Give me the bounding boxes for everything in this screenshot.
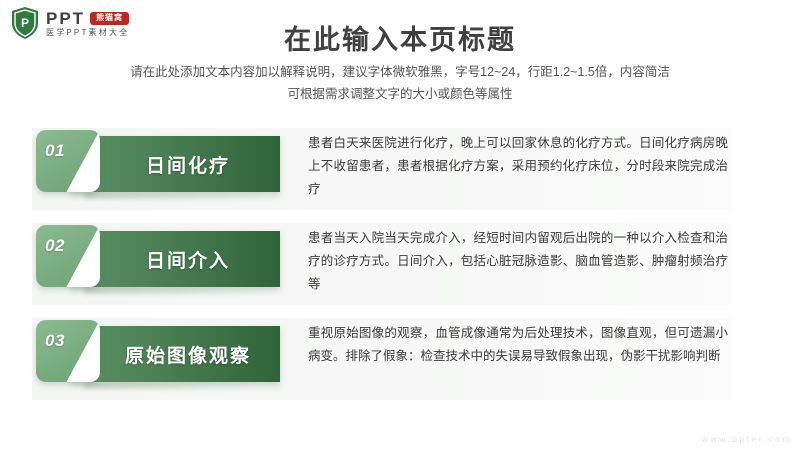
content-row[interactable]: 日间化疗 01 患者白天来医院进行化疗，晚上可以回家休息的化疗方式。日间化疗病房… [0,122,800,217]
row-label: 日间化疗 [120,151,230,178]
badge-diagonal-cut [66,130,100,192]
footer-url: www.ppter.com [702,434,792,444]
row-banner[interactable]: 日间介入 [70,231,280,287]
slide-canvas: P PPT 熊猫窝 医学PPT素材大全 在此输入本页标题 请在此处添加文本内容加… [0,0,800,450]
row-number: 02 [45,236,65,256]
content-row[interactable]: 日间介入 02 患者当天入院当天完成介入，经短时间内留观后出院的一种以介入检查和… [0,217,800,312]
row-number-badge: 03 [36,320,100,382]
row-body-text: 患者当天入院当天完成介入，经短时间内留观后出院的一种以介入检查和治疗的诊疗方式。… [308,227,728,296]
badge-diagonal-cut [66,225,100,287]
row-number: 01 [45,141,65,161]
subtitle-line-2: 可根据需求调整文字的大小或颜色等属性 [0,84,800,106]
banner-shadow [84,287,280,294]
banner-plate: 原始图像观察 [70,326,280,382]
badge-diagonal-cut [66,320,100,382]
row-banner[interactable]: 日间化疗 [70,136,280,192]
page-title: 在此输入本页标题 [0,18,800,57]
banner-plate: 日间介入 [70,231,280,287]
content-rows: 日间化疗 01 患者白天来医院进行化疗，晚上可以回家休息的化疗方式。日间化疗病房… [0,122,800,407]
row-body-text: 患者白天来医院进行化疗，晚上可以回家休息的化疗方式。日间化疗病房晚上不收留患者，… [308,132,728,201]
banner-shadow [84,192,280,199]
row-banner[interactable]: 原始图像观察 [70,326,280,382]
banner-shadow [84,382,280,389]
content-row[interactable]: 原始图像观察 03 重视原始图像的观察，血管成像通常为后处理技术，图像直观，但可… [0,312,800,407]
page-subtitle: 请在此处添加文本内容加以解释说明，建议字体微软雅黑，字号12~24，行距1.2~… [0,62,800,106]
banner-plate: 日间化疗 [70,136,280,192]
row-number: 03 [45,331,65,351]
row-number-badge: 01 [36,130,100,192]
row-label: 日间介入 [120,246,230,273]
row-number-badge: 02 [36,225,100,287]
row-body-text: 重视原始图像的观察，血管成像通常为后处理技术，图像直观，但可遗漏小病变。排除了假… [308,322,728,368]
subtitle-line-1: 请在此处添加文本内容加以解释说明，建议字体微软雅黑，字号12~24，行距1.2~… [0,62,800,84]
row-label: 原始图像观察 [99,341,251,368]
